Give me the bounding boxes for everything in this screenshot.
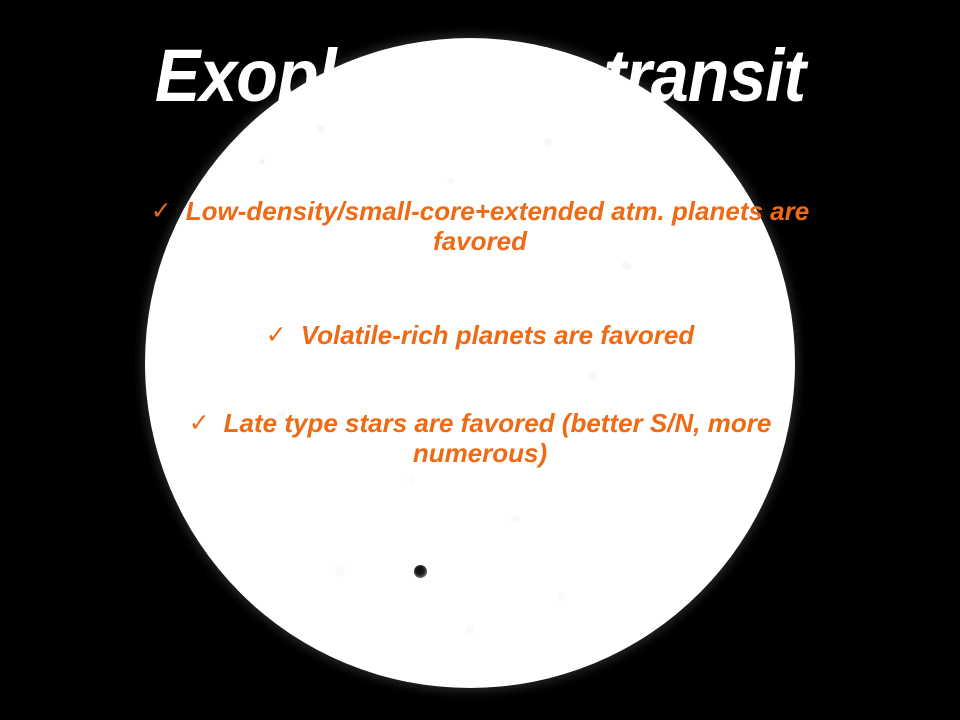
- list-item-label: Volatile-rich planets are favored: [301, 320, 695, 350]
- page-title: Exoplanets in transit: [38, 36, 921, 116]
- list-item: ✓Low-density/small-core+extended atm. pl…: [150, 196, 810, 256]
- checkmark-icon: ✓: [151, 196, 186, 225]
- list-item-label: Low-density/small-core+extended atm. pla…: [186, 196, 809, 256]
- slide-canvas: Exoplanets in transit ✓Low-density/small…: [0, 0, 960, 720]
- bullet-list: ✓Low-density/small-core+extended atm. pl…: [150, 196, 810, 468]
- transiting-planet-dot: [414, 565, 427, 578]
- checkmark-icon: ✓: [266, 320, 301, 349]
- list-item-label: Late type stars are favored (better S/N,…: [224, 408, 772, 468]
- list-item: ✓Late type stars are favored (better S/N…: [150, 408, 810, 468]
- list-item: ✓Volatile-rich planets are favored: [150, 320, 810, 350]
- checkmark-icon: ✓: [189, 408, 224, 437]
